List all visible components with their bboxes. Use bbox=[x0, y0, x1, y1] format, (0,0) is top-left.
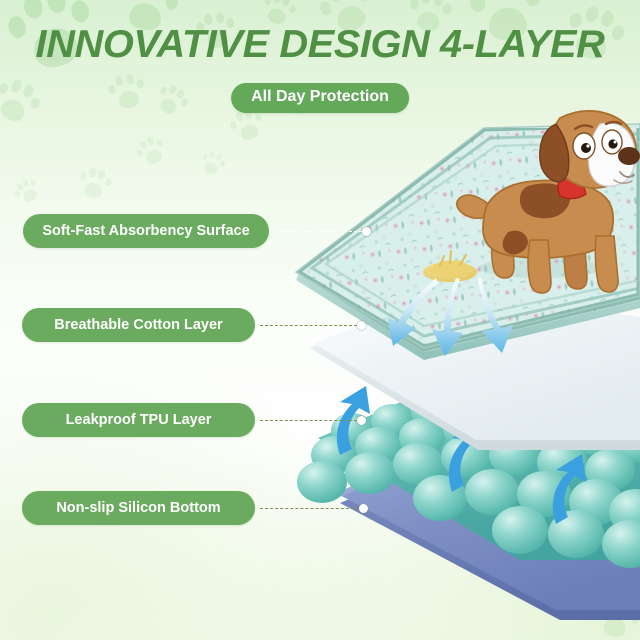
status-badge: All Day Protection bbox=[231, 83, 409, 113]
leader-line bbox=[260, 325, 362, 326]
callout-label: Soft-Fast Absorbency Surface bbox=[23, 214, 269, 248]
leader-dot-icon bbox=[357, 321, 366, 330]
leader-dot-icon bbox=[359, 504, 368, 513]
callout-label: Leakproof TPU Layer bbox=[22, 403, 255, 437]
callout-label: Non-slip Silicon Bottom bbox=[22, 491, 255, 525]
page-title: INNOVATIVE DESIGN 4-LAYER bbox=[0, 22, 640, 68]
callout-leakproof-tpu-layer[interactable]: Leakproof TPU Layer bbox=[22, 403, 362, 437]
leader-line bbox=[274, 231, 367, 232]
leader-dot-icon bbox=[357, 416, 366, 425]
leader-line bbox=[260, 508, 364, 509]
callout-non-slip-silicon-bottom[interactable]: Non-slip Silicon Bottom bbox=[22, 491, 364, 525]
callout-soft-fast-absorbency-surface[interactable]: Soft-Fast Absorbency Surface bbox=[23, 214, 367, 248]
callout-breathable-cotton-layer[interactable]: Breathable Cotton Layer bbox=[22, 308, 362, 342]
leader-dot-icon bbox=[362, 227, 371, 236]
callout-label: Breathable Cotton Layer bbox=[22, 308, 255, 342]
leader-line bbox=[260, 420, 362, 421]
infographic-canvas: INNOVATIVE DESIGN 4-LAYER All Day Protec… bbox=[0, 0, 640, 640]
